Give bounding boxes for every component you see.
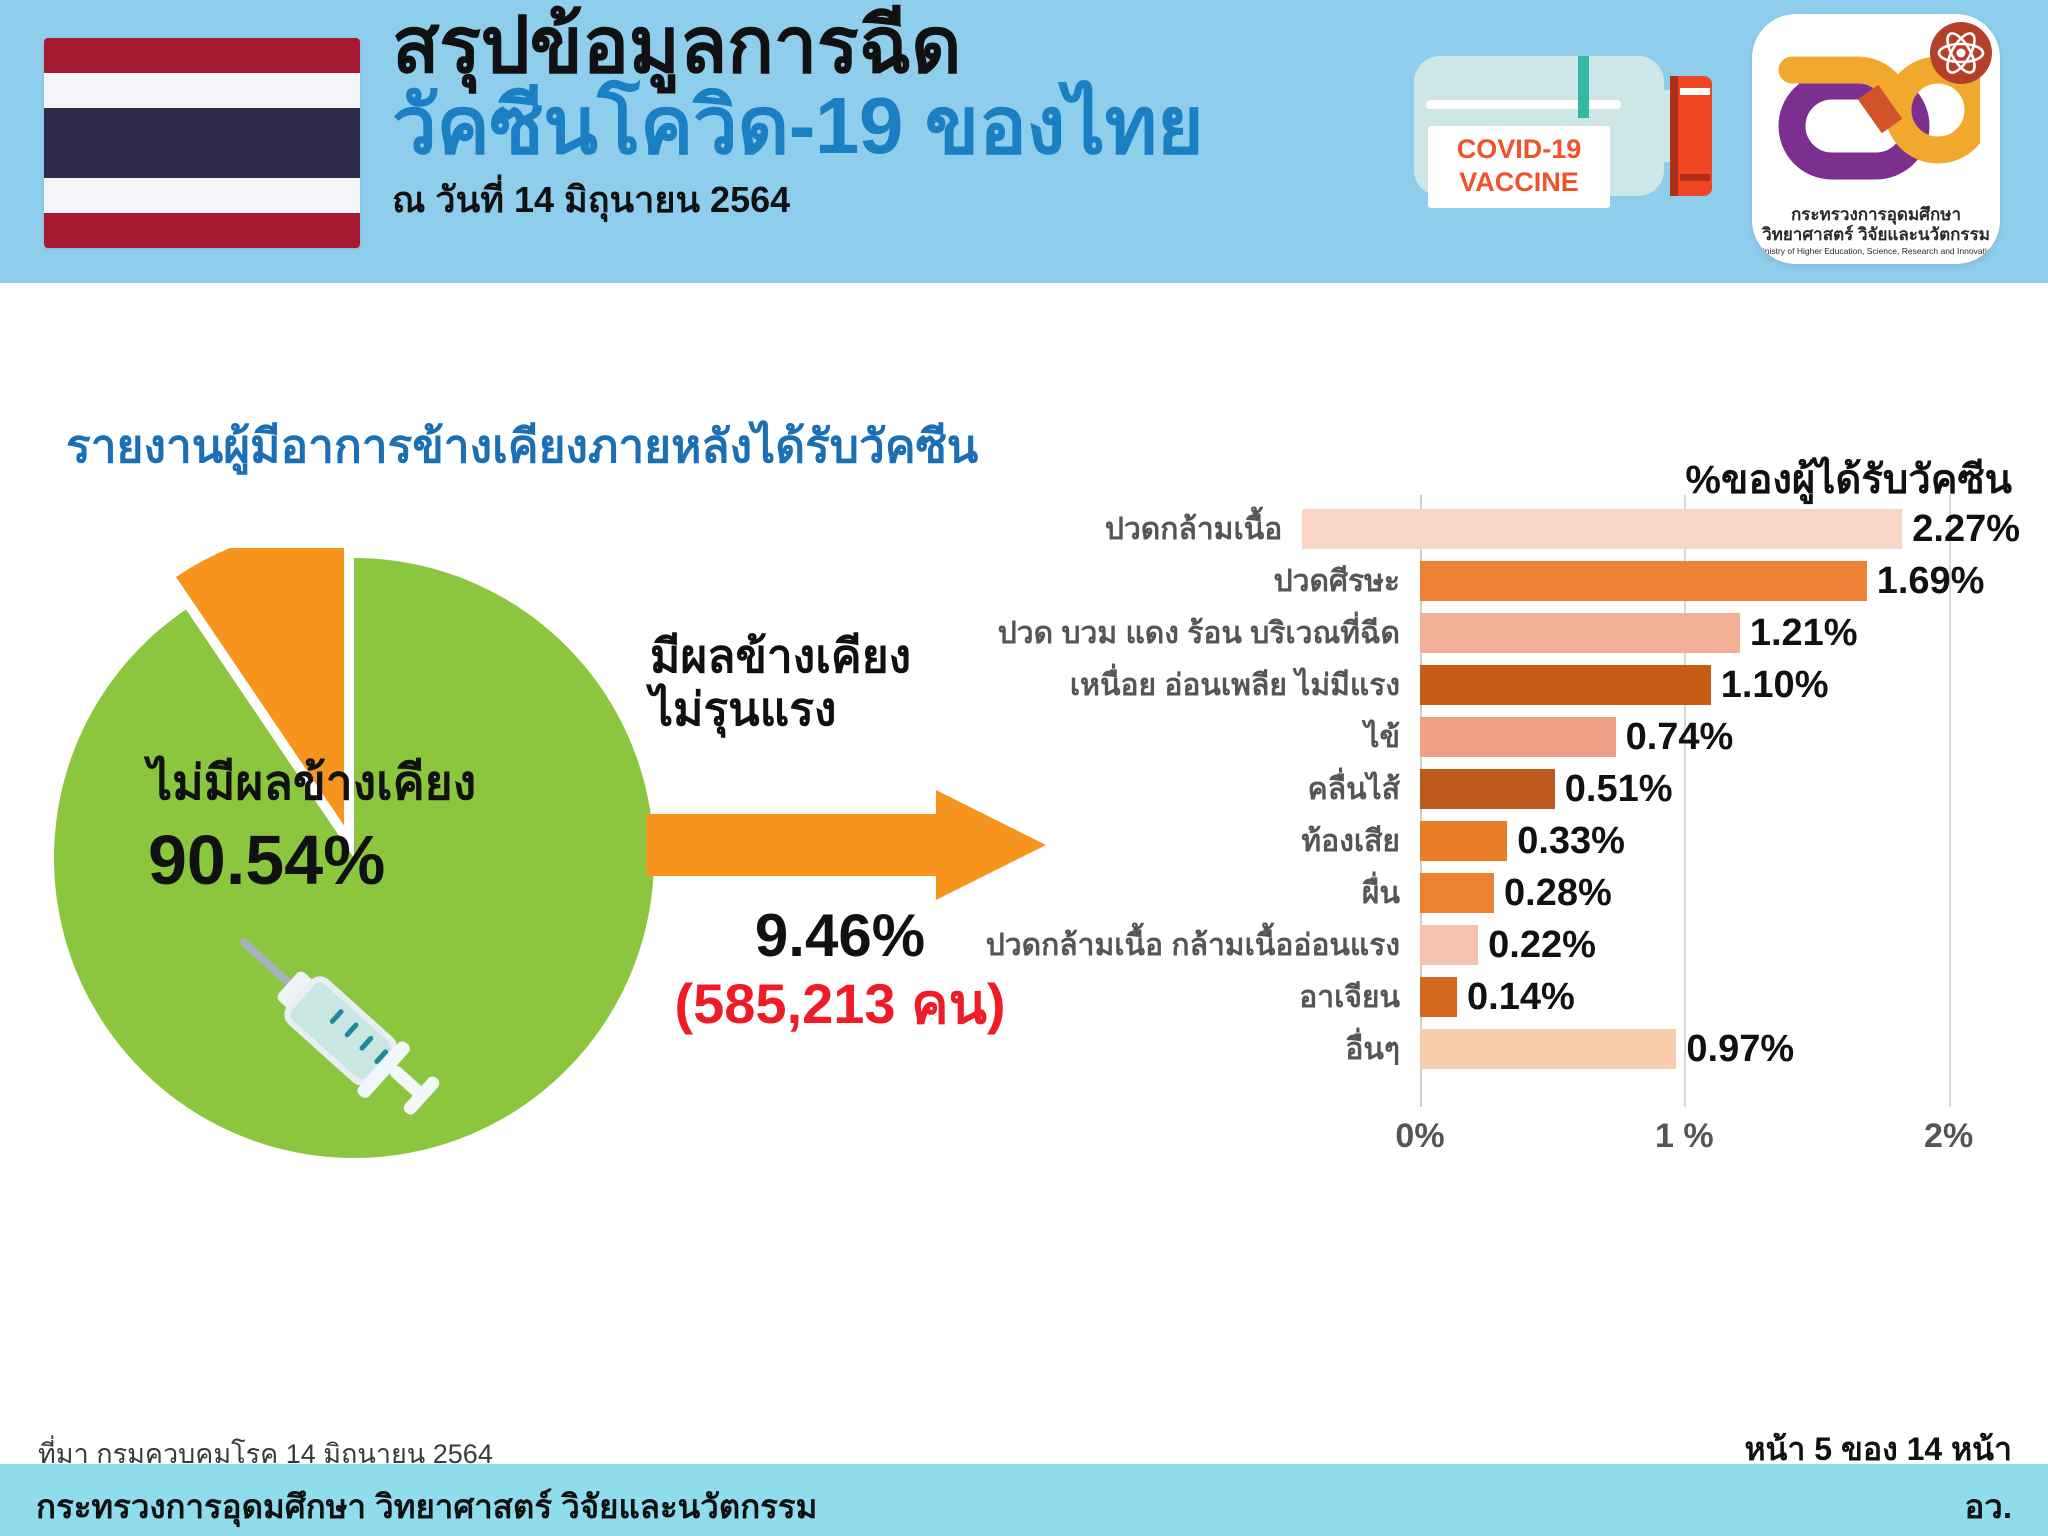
- chart-row-track: 0.14%: [1420, 971, 2020, 1023]
- chart-row-label: อาเจียน: [980, 974, 1420, 1021]
- chart-bar-value: 1.10%: [1721, 664, 1829, 707]
- chart-row: คลื่นไส้0.51%: [980, 763, 2020, 815]
- chart-row: ปวดกล้ามเนื้อ2.27%: [980, 503, 2020, 555]
- footer-ministry: กระทรวงการอุดมศึกษา วิทยาศาสตร์ วิจัยและ…: [36, 1480, 817, 1533]
- report-date: ณ วันที่ 14 มิถุนายน 2564: [392, 171, 1203, 228]
- chart-bar-value: 0.22%: [1488, 924, 1596, 967]
- thai-flag-icon: [44, 38, 360, 248]
- chart-row-track: 0.51%: [1420, 763, 2020, 815]
- chart-row-label: ปวดกล้ามเนื้อ: [980, 506, 1302, 553]
- chart-axis-tick: 1 %: [1655, 1117, 1714, 1156]
- chart-row: ปวด บวม แดง ร้อน บริเวณที่ฉีด1.21%: [980, 607, 2020, 659]
- chart-bar: [1420, 665, 1711, 705]
- chart-row-track: 2.27%: [1302, 503, 2020, 555]
- chart-bar-value: 2.27%: [1912, 508, 2020, 551]
- chart-axis-tick: 2%: [1924, 1117, 1973, 1156]
- side-effect-bar-chart: %ของผู้ได้รับวัคซีน ปวดกล้ามเนื้อ2.27%ปว…: [980, 455, 2020, 1115]
- chart-row-track: 0.74%: [1420, 711, 2020, 763]
- chart-bar-value: 0.14%: [1467, 976, 1575, 1019]
- chart-bar: [1420, 821, 1507, 861]
- section-title: รายงานผู้มีอาการข้างเคียงภายหลังได้รับวั…: [66, 410, 978, 483]
- footer-bar: กระทรวงการอุดมศึกษา วิทยาศาสตร์ วิจัยและ…: [0, 1464, 2048, 1536]
- chart-row-track: 0.22%: [1420, 919, 2020, 971]
- vaccine-vial-icon: COVID-19 VACCINE: [1406, 38, 1716, 213]
- chart-bar: [1302, 509, 1902, 549]
- chart-bar: [1420, 977, 1457, 1017]
- header-title-block: สรุปข้อมูลการฉีด วัคซีนโควิด-19 ของไทย ณ…: [392, 6, 1203, 228]
- chart-bar-value: 1.69%: [1877, 560, 1985, 603]
- chart-row: เหนื่อย อ่อนเพลีย ไม่มีแรง1.10%: [980, 659, 2020, 711]
- chart-row-track: 1.10%: [1420, 659, 2020, 711]
- chart-bar: [1420, 873, 1494, 913]
- chart-bar: [1420, 925, 1478, 965]
- page-title-line2: วัคซีนโควิด-19 ของไทย: [392, 84, 1203, 167]
- chart-row: อาเจียน0.14%: [980, 971, 2020, 1023]
- atom-icon: [1930, 22, 1992, 84]
- logo-text-line2: วิทยาศาสตร์ วิจัยและนวัตกรรม: [1752, 225, 2000, 245]
- chart-row-label: อื่นๆ: [980, 1026, 1420, 1073]
- logo-text-line3: Ministry of Higher Education, Science, R…: [1752, 246, 2000, 256]
- chart-row-label: ท้องเสีย: [980, 818, 1420, 865]
- chart-row: ท้องเสีย0.33%: [980, 815, 2020, 867]
- chart-bar: [1420, 769, 1555, 809]
- chart-axis-labels: 0%1 %2%: [1420, 1117, 2020, 1167]
- page-header: สรุปข้อมูลการฉีด วัคซีนโควิด-19 ของไทย ณ…: [0, 0, 2048, 283]
- chart-row-track: 1.69%: [1420, 555, 2020, 607]
- chart-row-track: 1.21%: [1420, 607, 2020, 659]
- chart-row-label: ปวดศีรษะ: [980, 558, 1420, 605]
- chart-bar: [1420, 1029, 1676, 1069]
- chart-bar-value: 0.33%: [1517, 820, 1625, 863]
- chart-bar-value: 0.97%: [1686, 1028, 1794, 1071]
- chart-row: ปวดกล้ามเนื้อ กล้ามเนื้ออ่อนแรง0.22%: [980, 919, 2020, 971]
- chart-bar-value: 1.21%: [1750, 612, 1858, 655]
- chart-title: %ของผู้ได้รับวัคซีน: [1685, 447, 2012, 511]
- chart-rows: ปวดกล้ามเนื้อ2.27%ปวดศีรษะ1.69%ปวด บวม แ…: [980, 503, 2020, 1075]
- syringe-icon: [164, 898, 464, 1148]
- chart-row: ผื่น0.28%: [980, 867, 2020, 919]
- chart-row-label: ผื่น: [980, 870, 1420, 917]
- chart-row-label: คลื่นไส้: [980, 766, 1420, 813]
- footer-abbrev: อว.: [1964, 1480, 2012, 1533]
- side-effect-pie-chart: ไม่มีผลข้างเคียง 90.54%: [44, 548, 664, 1168]
- chart-row-track: 0.33%: [1420, 815, 2020, 867]
- page-title-line1: สรุปข้อมูลการฉีด: [392, 6, 1203, 86]
- chart-row-track: 0.97%: [1420, 1023, 2020, 1075]
- chart-row-label: เหนื่อย อ่อนเพลีย ไม่มีแรง: [980, 662, 1420, 709]
- logo-text-line1: กระทรวงการอุดมศึกษา: [1752, 205, 2000, 225]
- mhesi-logo: กระทรวงการอุดมศึกษา วิทยาศาสตร์ วิจัยและ…: [1752, 14, 2000, 264]
- chart-row-label: ปวดกล้ามเนื้อ กล้ามเนื้ออ่อนแรง: [980, 922, 1420, 969]
- chart-row-track: 0.28%: [1420, 867, 2020, 919]
- chart-bar: [1420, 717, 1616, 757]
- chart-row: ปวดศีรษะ1.69%: [980, 555, 2020, 607]
- chart-row: อื่นๆ0.97%: [980, 1023, 2020, 1075]
- chart-axis-tick: 0%: [1395, 1117, 1444, 1156]
- chart-bar: [1420, 613, 1740, 653]
- chart-row-label: ไข้: [980, 714, 1420, 761]
- chart-row: ไข้0.74%: [980, 711, 2020, 763]
- chart-bar-value: 0.28%: [1504, 872, 1612, 915]
- chart-bar-value: 0.51%: [1565, 768, 1673, 811]
- chart-bar: [1420, 561, 1867, 601]
- vial-label-line2: VACCINE: [1459, 167, 1579, 197]
- vial-label-line1: COVID-19: [1457, 134, 1582, 164]
- chart-bar-value: 0.74%: [1626, 716, 1734, 759]
- chart-row-label: ปวด บวม แดง ร้อน บริเวณที่ฉีด: [980, 610, 1420, 657]
